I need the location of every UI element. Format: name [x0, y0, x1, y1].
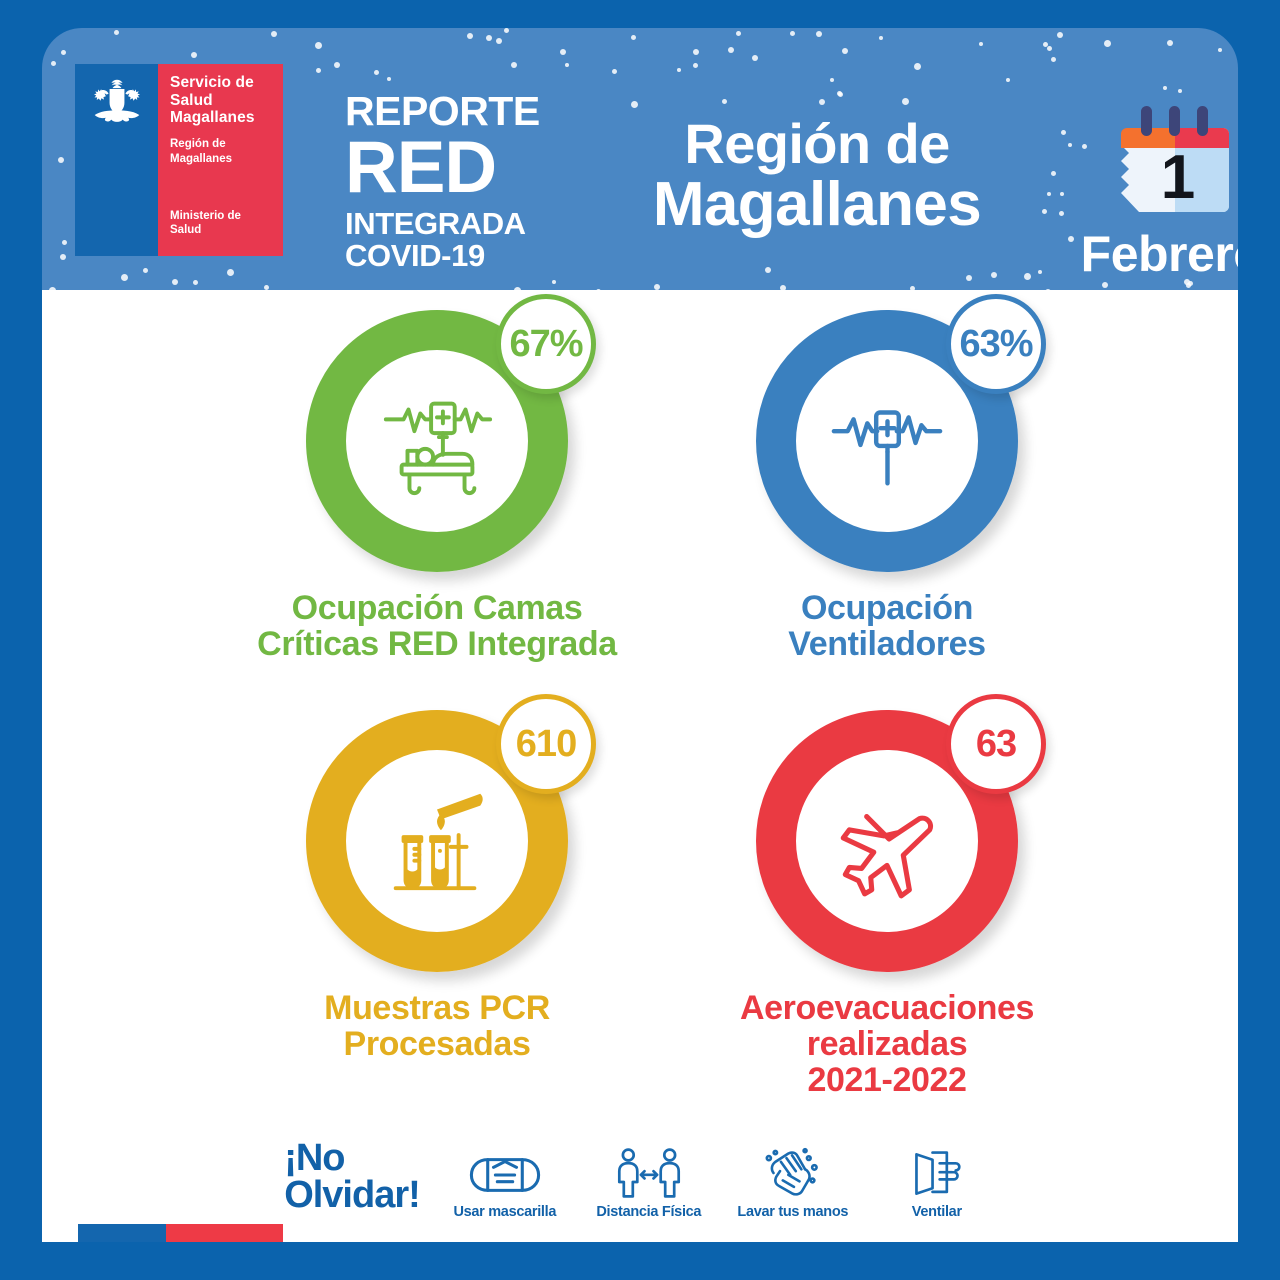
stat-caption-line1: Ocupación — [667, 590, 1107, 626]
stat-caption-line2: Críticas RED Integrada — [202, 626, 672, 662]
prevention-item-mask: Usar mascarilla — [446, 1143, 564, 1220]
ring-wrapper: 610 — [306, 710, 568, 972]
chile-coat-of-arms-icon — [89, 76, 145, 128]
stat-value-badge: 67% — [496, 294, 596, 394]
logo-service-line1: Servicio de — [170, 74, 283, 92]
stat-caption-line3: 2021-2022 — [667, 1062, 1107, 1098]
logo-red-panel: Servicio de Salud Magallanes Región de M… — [158, 64, 283, 256]
report-word-reporte: REPORTE — [345, 90, 575, 132]
stat-caption-line2: realizadas — [667, 1026, 1107, 1062]
flag-accent-bar — [78, 1224, 283, 1242]
flag-accent-red — [166, 1224, 283, 1242]
prevention-label: Usar mascarilla — [446, 1204, 564, 1220]
no-olvidar-line1: ¡No — [284, 1140, 420, 1177]
logo-ministry-line2: Salud — [170, 223, 283, 237]
stats-panel: 67% Ocupación Camas Críticas RED Integra… — [42, 290, 1238, 1242]
stat-value-badge: 610 — [496, 694, 596, 794]
region-title-line2: Magallanes — [602, 174, 1032, 236]
stat-value-text: 63% — [959, 323, 1032, 366]
calendar-month-label: Febrero — [1072, 227, 1238, 281]
stat-caption: Ocupación Camas Críticas RED Integrada — [202, 590, 672, 662]
prevention-footer: ¡No Olvidar! Usar mascarilla — [42, 1128, 1238, 1220]
no-olvidar-text: ¡No Olvidar! — [284, 1140, 420, 1220]
stat-caption: Aeroevacuaciones realizadas 2021-2022 — [667, 990, 1107, 1098]
test-tubes-pipette-icon — [372, 776, 502, 906]
report-word-covid: COVID-19 — [345, 240, 575, 272]
wash-hands-icon — [734, 1143, 852, 1199]
stat-caption-line1: Aeroevacuaciones — [667, 990, 1107, 1026]
prevention-label: Lavar tus manos — [734, 1204, 852, 1220]
airplane-icon — [822, 776, 952, 906]
stat-caption-line1: Muestras PCR — [202, 990, 672, 1026]
report-word-red: RED — [345, 134, 575, 202]
logo-ministry-line1: Ministerio de — [170, 209, 283, 223]
stat-card-ventiladores: 63% Ocupación Ventiladores — [667, 310, 1107, 662]
stat-card-camas-criticas: 67% Ocupación Camas Críticas RED Integra… — [202, 310, 672, 662]
calendar-icon: 1 — [1105, 98, 1239, 223]
calendar-day-number: 1 — [1160, 143, 1194, 212]
stat-value-badge: 63 — [946, 694, 1046, 794]
ventilate-door-icon — [878, 1143, 996, 1199]
flag-accent-blue — [78, 1224, 166, 1242]
face-mask-icon — [446, 1143, 564, 1199]
stat-caption-line2: Ventiladores — [667, 626, 1107, 662]
prevention-item-distance: Distancia Física — [590, 1143, 708, 1220]
prevention-item-wash-hands: Lavar tus manos — [734, 1143, 852, 1220]
ventilator-monitor-icon — [822, 376, 952, 506]
logo-region-line2: Magallanes — [170, 152, 283, 167]
ring-wrapper: 63% — [756, 310, 1018, 572]
prevention-label: Ventilar — [878, 1204, 996, 1220]
ring-wrapper: 63 — [756, 710, 1018, 972]
region-title-line1: Región de — [602, 114, 1032, 174]
stat-value-text: 610 — [516, 723, 576, 766]
ministry-logo: Servicio de Salud Magallanes Región de M… — [75, 64, 283, 256]
stat-card-muestras-pcr: 610 Muestras PCR Procesadas — [202, 710, 672, 1062]
region-title: Región de Magallanes — [602, 114, 1032, 236]
stat-caption-line1: Ocupación Camas — [202, 590, 672, 626]
date-block: 1 Febrero — [1072, 98, 1238, 281]
prevention-item-ventilate: Ventilar — [878, 1143, 996, 1220]
report-title-block: REPORTE RED INTEGRADA COVID-19 — [345, 90, 575, 272]
report-word-integrada: INTEGRADA — [345, 208, 575, 240]
stat-caption: Ocupación Ventiladores — [667, 590, 1107, 662]
logo-blue-panel — [75, 64, 158, 256]
physical-distance-icon — [590, 1143, 708, 1199]
prevention-label: Distancia Física — [590, 1204, 708, 1220]
logo-service-line3: Magallanes — [170, 109, 283, 127]
stat-card-aeroevacuaciones: 63 Aeroevacuaciones realizadas 2021-2022 — [667, 710, 1107, 1098]
header-panel: Servicio de Salud Magallanes Región de M… — [42, 28, 1238, 290]
infographic-root: Servicio de Salud Magallanes Región de M… — [0, 0, 1280, 1280]
no-olvidar-line2: Olvidar! — [284, 1177, 420, 1214]
hospital-bed-icon — [372, 376, 502, 506]
logo-service-line2: Salud — [170, 92, 283, 110]
ring-wrapper: 67% — [306, 310, 568, 572]
stat-value-badge: 63% — [946, 294, 1046, 394]
stat-caption-line2: Procesadas — [202, 1026, 672, 1062]
stat-value-text: 63 — [976, 723, 1016, 766]
stat-caption: Muestras PCR Procesadas — [202, 990, 672, 1062]
logo-region-line1: Región de — [170, 137, 283, 152]
stat-value-text: 67% — [509, 323, 582, 366]
